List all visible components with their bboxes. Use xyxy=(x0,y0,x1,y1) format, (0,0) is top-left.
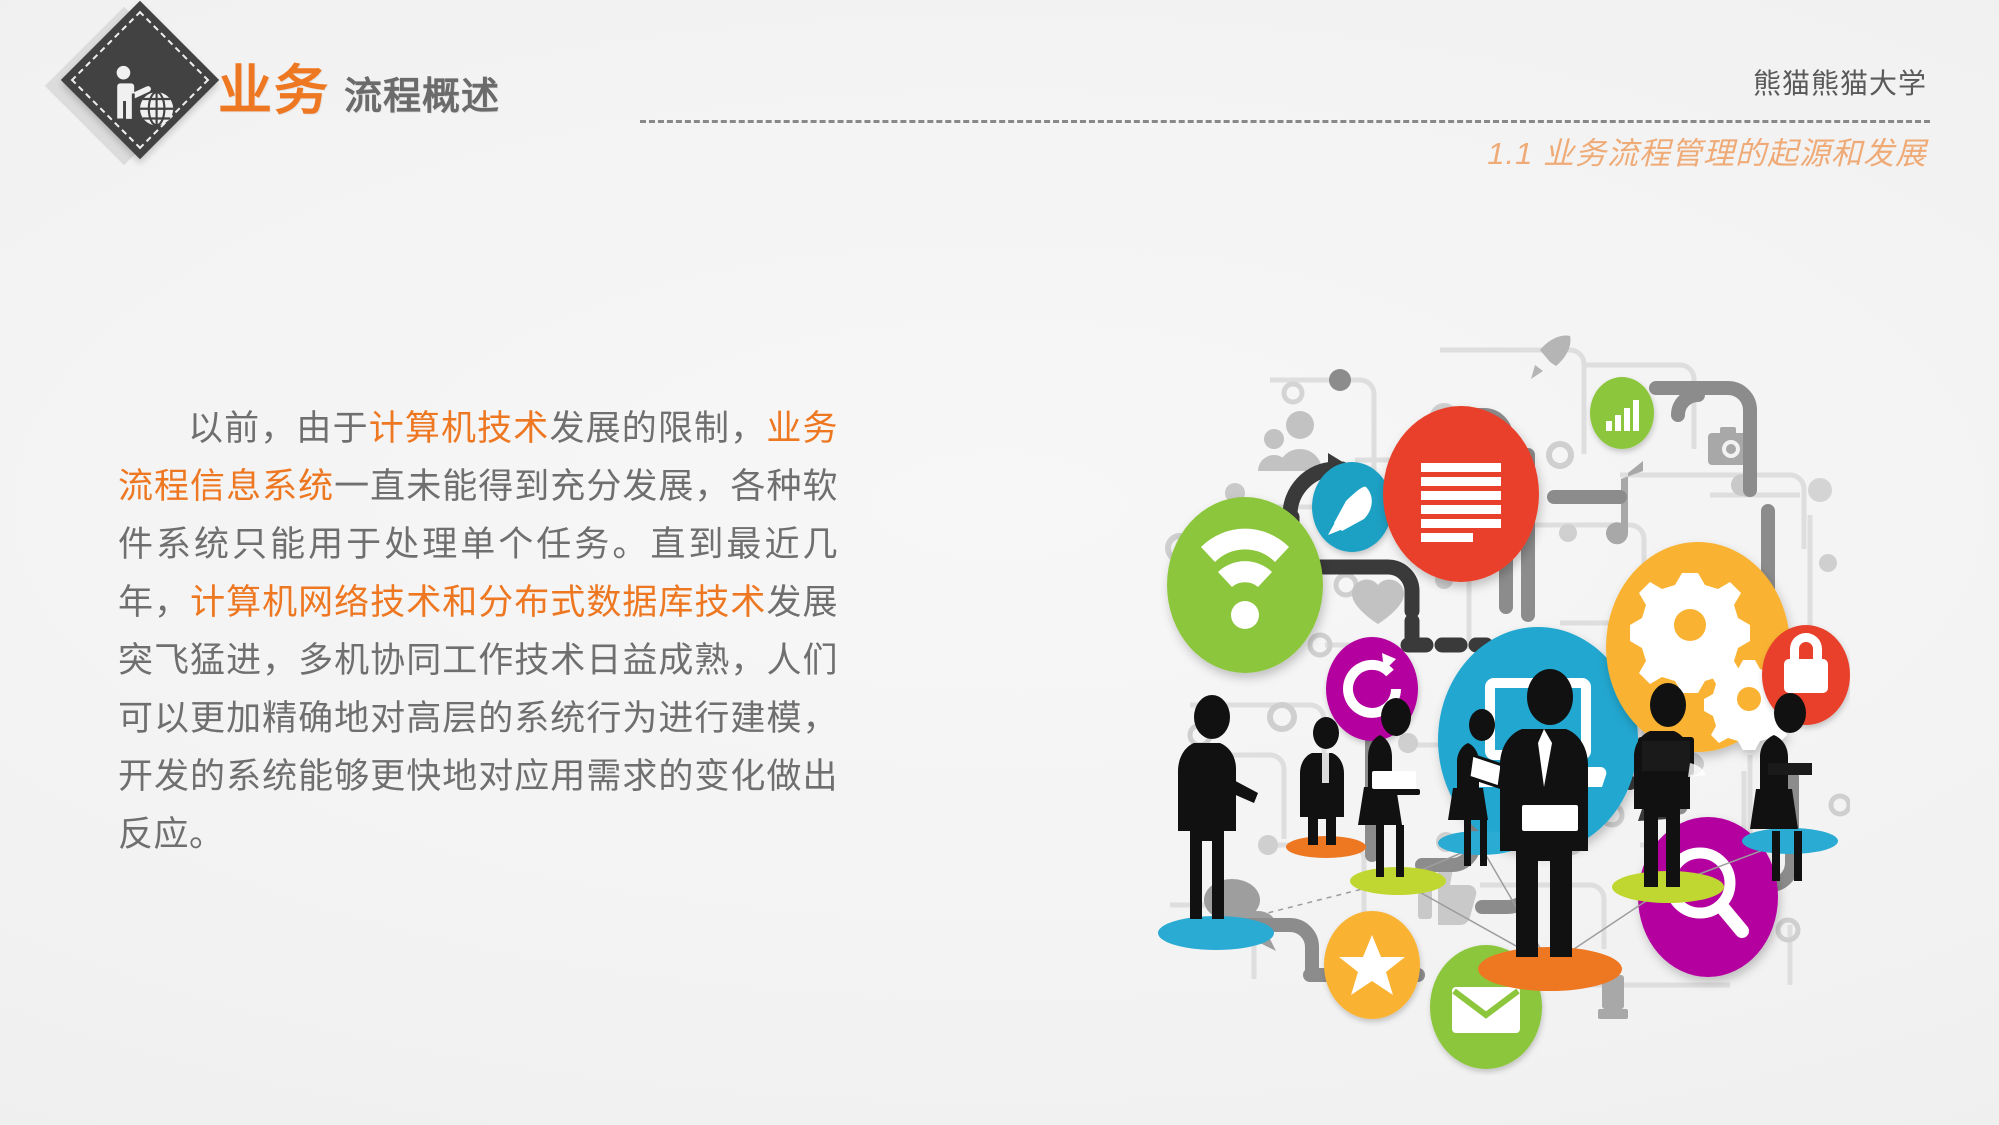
paragraph-text: 以前，由于计算机技术发展的限制，业务流程信息系统一直未能得到充分发展，各种软件系… xyxy=(118,400,838,864)
logo-diamond xyxy=(68,22,218,172)
page-title: 业务流程概述 xyxy=(218,46,500,125)
document-icon-node xyxy=(1383,406,1539,582)
heart-icon xyxy=(1352,580,1404,624)
technology-network-illustration xyxy=(1150,285,1850,1075)
person-silhouette xyxy=(1300,717,1344,845)
signal-bars-icon-node xyxy=(1590,377,1654,449)
plain-text: 以前，由于 xyxy=(188,409,369,448)
rocket-icon-node xyxy=(1312,462,1392,552)
plain-text: 发展的限制， xyxy=(549,409,766,448)
body-paragraph: 以前，由于计算机技术发展的限制，业务流程信息系统一直未能得到充分发展，各种软件系… xyxy=(118,400,838,864)
highlighted-text: 计算机网络技术和分布式数据库技术 xyxy=(190,583,766,622)
plain-text: 发展突飞猛进，多机协同工作技术日益成熟，人们可以更加精确地对高层的系统行为进行建… xyxy=(118,583,838,854)
header-divider xyxy=(640,120,1930,123)
title-sub: 流程概述 xyxy=(344,65,500,120)
section-subtitle: 1.1 业务流程管理的起源和发展 xyxy=(1487,128,1927,173)
users-icon xyxy=(1258,411,1322,471)
university-name: 熊猫熊猫大学 xyxy=(1753,62,1927,102)
presenter-globe-icon xyxy=(102,60,180,138)
star-icon-node xyxy=(1324,911,1420,1019)
wifi-icon-node xyxy=(1167,497,1323,673)
title-main: 业务 xyxy=(218,46,330,125)
slide-header: 业务流程概述 熊猫熊猫大学 1.1 业务流程管理的起源和发展 xyxy=(0,0,1999,200)
rocket-small-icon xyxy=(1531,336,1570,379)
highlighted-text: 计算机技术 xyxy=(369,409,550,448)
